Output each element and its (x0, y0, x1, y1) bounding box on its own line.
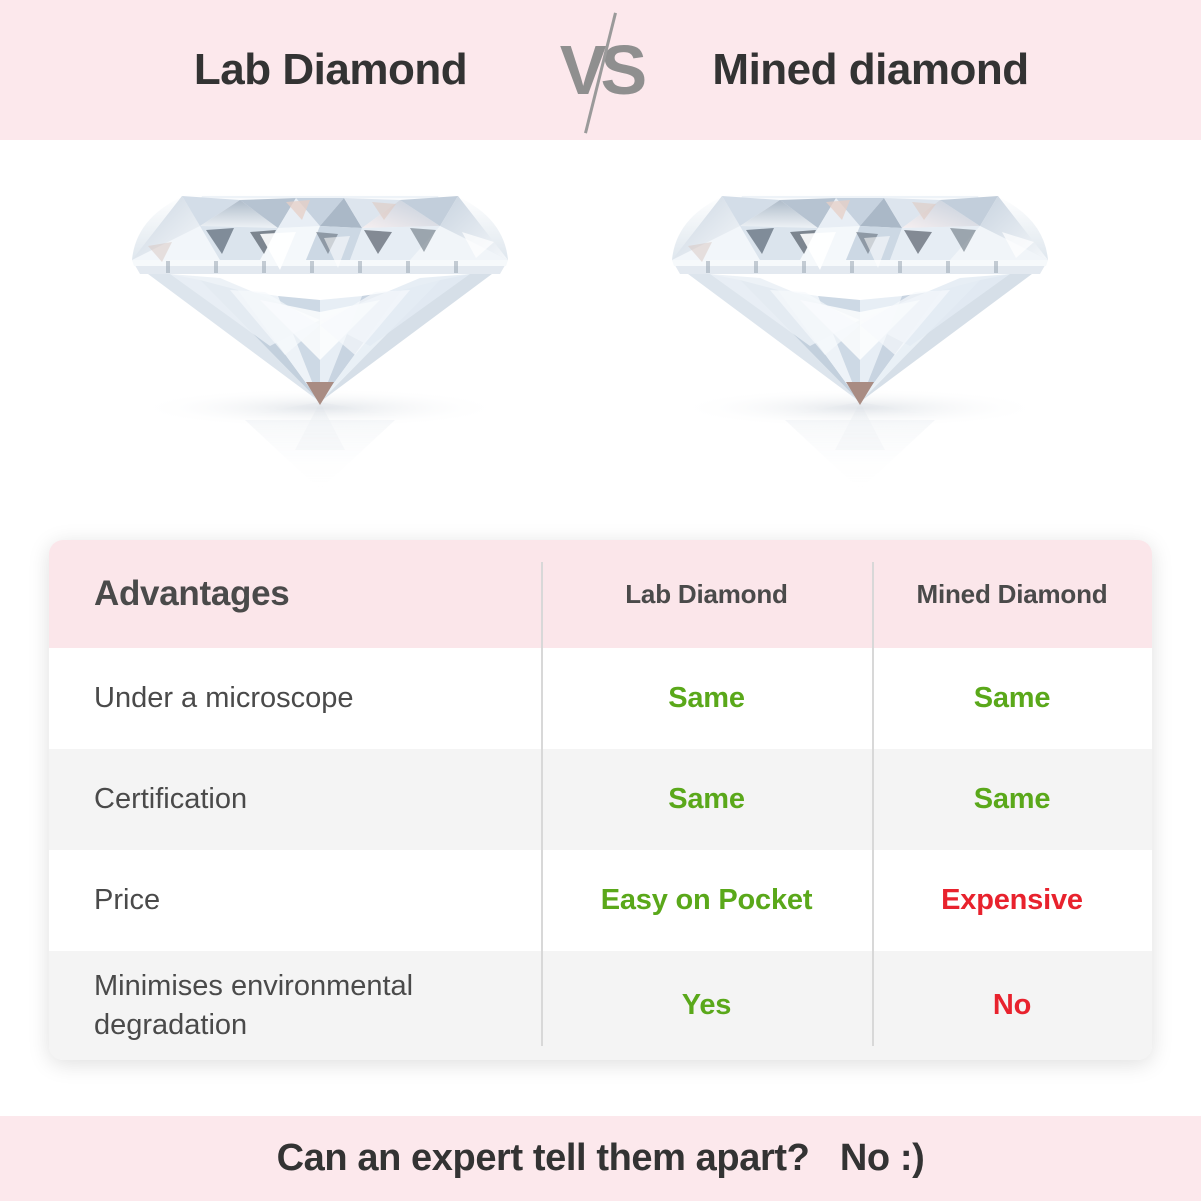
row-feature-label: Certification (49, 780, 541, 819)
header-advantages: Advantages (49, 574, 541, 614)
row-lab-value: Same (541, 682, 872, 715)
footer-question: Can an expert tell them apart? No :) (277, 1137, 925, 1180)
header-title-mined: Mined diamond (656, 45, 1086, 95)
row-mined-value: Same (872, 682, 1152, 715)
vs-badge: VS (546, 5, 656, 135)
header-lab-diamond: Lab Diamond (541, 579, 872, 610)
row-mined-value: Same (872, 783, 1152, 816)
row-feature-label: Price (49, 881, 541, 920)
column-divider-2 (872, 850, 874, 951)
column-divider-1 (541, 951, 543, 1046)
column-divider-1 (541, 648, 543, 749)
diamond-comparison-area (0, 140, 1201, 525)
table-row: Price Easy on Pocket Expensive (49, 850, 1152, 951)
mined-diamond-image (650, 150, 1070, 520)
column-divider-2 (872, 562, 874, 648)
row-mined-value: Expensive (872, 884, 1152, 917)
column-divider-1 (541, 562, 543, 648)
table-row: Certification Same Same (49, 749, 1152, 850)
row-mined-value: No (872, 989, 1152, 1022)
footer-band: Can an expert tell them apart? No :) (0, 1116, 1201, 1201)
row-lab-value: Yes (541, 989, 872, 1022)
column-divider-2 (872, 648, 874, 749)
header-mined-diamond: Mined Diamond (872, 579, 1152, 610)
lab-diamond-image (110, 150, 530, 520)
column-divider-1 (541, 749, 543, 850)
column-divider-2 (872, 749, 874, 850)
header-band: Lab Diamond VS Mined diamond (0, 0, 1201, 140)
column-divider-1 (541, 850, 543, 951)
row-feature-label: Minimises environmental degradation (49, 967, 541, 1044)
header-title-lab: Lab Diamond (116, 45, 546, 95)
column-divider-2 (872, 951, 874, 1046)
table-row: Minimises environmental degradation Yes … (49, 951, 1152, 1060)
row-feature-label: Under a microscope (49, 679, 541, 718)
comparison-table: Advantages Lab Diamond Mined Diamond Und… (49, 540, 1152, 1060)
row-lab-value: Same (541, 783, 872, 816)
table-header-row: Advantages Lab Diamond Mined Diamond (49, 540, 1152, 648)
table-row: Under a microscope Same Same (49, 648, 1152, 749)
row-lab-value: Easy on Pocket (541, 884, 872, 917)
